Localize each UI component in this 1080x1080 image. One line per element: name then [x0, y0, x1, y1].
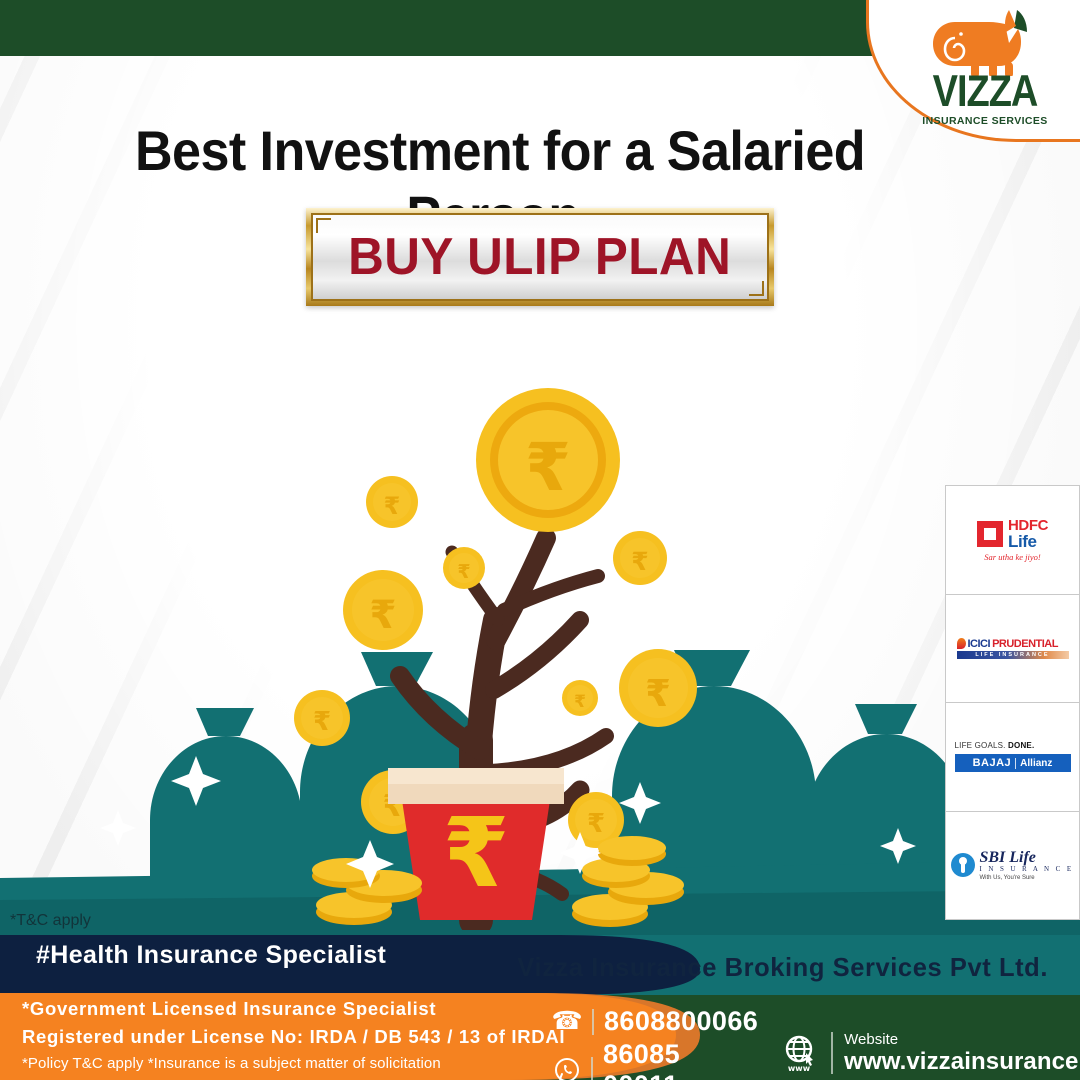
website-divider [831, 1032, 833, 1074]
website-group[interactable]: www Website www.vizzainsurance.com [780, 1032, 1080, 1075]
company-name: Vizza Insurance Broking Services Pvt Ltd… [517, 952, 1048, 983]
whatsapp-icon [552, 1057, 581, 1080]
svg-text:₹: ₹ [525, 429, 571, 506]
poster-canvas: ₹ ₹ ₹ ₹ ₹ ₹ ₹ ₹ ₹ ₹ [0, 0, 1080, 1080]
bajaj-tagline-bold: DONE. [1008, 741, 1034, 750]
telephone-icon: ☎ [552, 1009, 582, 1034]
svg-text:www: www [788, 1064, 811, 1073]
icici-mark-icon [957, 638, 966, 649]
hdfc-brand: HDFC [1008, 518, 1048, 533]
coin-large-top: ₹ [476, 388, 620, 532]
elephant-icon [925, 4, 1045, 76]
vizza-logo[interactable]: VIZZA INSURANCE SERVICES [890, 4, 1080, 144]
bajaj-brand: BAJAJ [973, 757, 1012, 769]
phone-divider [592, 1009, 594, 1035]
cta-plaque[interactable]: BUY ULIP PLAN [306, 208, 774, 306]
bajaj-tagline-pre: LIFE GOALS. [955, 741, 1006, 750]
svg-text:₹: ₹ [587, 809, 605, 839]
bajaj-tagline: LIFE GOALS. DONE. [955, 741, 1035, 750]
bajaj-divider [1015, 758, 1016, 769]
svg-text:₹: ₹ [457, 561, 470, 583]
license-line-1: *Government Licensed Insurance Specialis… [22, 995, 565, 1023]
svg-text:₹: ₹ [574, 692, 586, 712]
bajaj-logo-bar: BAJAJ Allianz [955, 754, 1071, 772]
partner-hdfc-life[interactable]: HDFC Life Sar utha ke jiyo! [946, 486, 1079, 595]
sbi-tagline: With Us, You're Sure [979, 875, 1073, 881]
partner-logos-panel: HDFC Life Sar utha ke jiyo! ICICI PRUDEN… [945, 485, 1080, 920]
logo-subtitle: INSURANCE SERVICES [922, 115, 1047, 127]
contact-bar: ☎ 8608800066 86085 00011 [552, 1006, 1080, 1080]
hdfc-mark-icon [977, 521, 1003, 547]
header-banner [0, 0, 876, 56]
license-block: *Government Licensed Insurance Specialis… [22, 995, 565, 1076]
website-url: www.vizzainsurance.com [844, 1049, 1080, 1075]
hdfc-tagline: Sar utha ke jiyo! [984, 552, 1040, 562]
hashtag-label: #Health Insurance Specialist [36, 941, 386, 970]
svg-text:₹: ₹ [443, 797, 510, 909]
phone-row[interactable]: ☎ 8608800066 [552, 1006, 758, 1037]
sbi-brand: SBI Life [979, 850, 1073, 867]
logo-wordmark: VIZZA [933, 71, 1038, 114]
bajaj-product: Allianz [1020, 758, 1052, 769]
whatsapp-number: 86085 00011 [603, 1039, 758, 1080]
globe-icon: www [780, 1033, 820, 1073]
partner-bajaj-allianz[interactable]: LIFE GOALS. DONE. BAJAJ Allianz [946, 703, 1079, 812]
sbi-product: I N S U R A N C E [979, 866, 1073, 873]
icici-product: PRUDENTIAL [992, 638, 1058, 650]
partner-sbi-life[interactable]: SBI Life I N S U R A N C E With Us, You'… [946, 812, 1079, 920]
money-tree-illustration: ₹ ₹ ₹ ₹ ₹ ₹ ₹ ₹ ₹ ₹ [280, 320, 760, 930]
svg-text:₹: ₹ [369, 593, 396, 638]
svg-text:₹: ₹ [384, 492, 401, 520]
sbi-keyhole-icon [951, 853, 975, 877]
icici-tagline-bar: LIFE INSURANCE [957, 651, 1069, 659]
cta-plaque-text: BUY ULIP PLAN [348, 227, 731, 287]
license-line-2: Registered under License No: IRDA / DB 5… [22, 1023, 565, 1051]
svg-text:₹: ₹ [631, 547, 648, 576]
svg-text:₹: ₹ [313, 707, 331, 737]
license-line-3: *Policy T&C apply *Insurance is a subjec… [22, 1052, 565, 1076]
website-label: Website [844, 1032, 1080, 1049]
whatsapp-divider [591, 1057, 593, 1080]
terms-note: *T&C apply [10, 912, 91, 930]
phone-group: ☎ 8608800066 86085 00011 [552, 1006, 758, 1080]
icici-brand: ICICI [968, 638, 991, 650]
svg-text:₹: ₹ [645, 672, 671, 715]
icici-tagline: LIFE INSURANCE [975, 652, 1049, 658]
whatsapp-row[interactable]: 86085 00011 [552, 1039, 758, 1080]
phone-number: 8608800066 [604, 1006, 758, 1037]
hdfc-product: Life [1008, 533, 1048, 550]
cta-plaque-inner: BUY ULIP PLAN [311, 213, 769, 301]
partner-icici-prudential[interactable]: ICICI PRUDENTIAL LIFE INSURANCE [946, 595, 1079, 704]
